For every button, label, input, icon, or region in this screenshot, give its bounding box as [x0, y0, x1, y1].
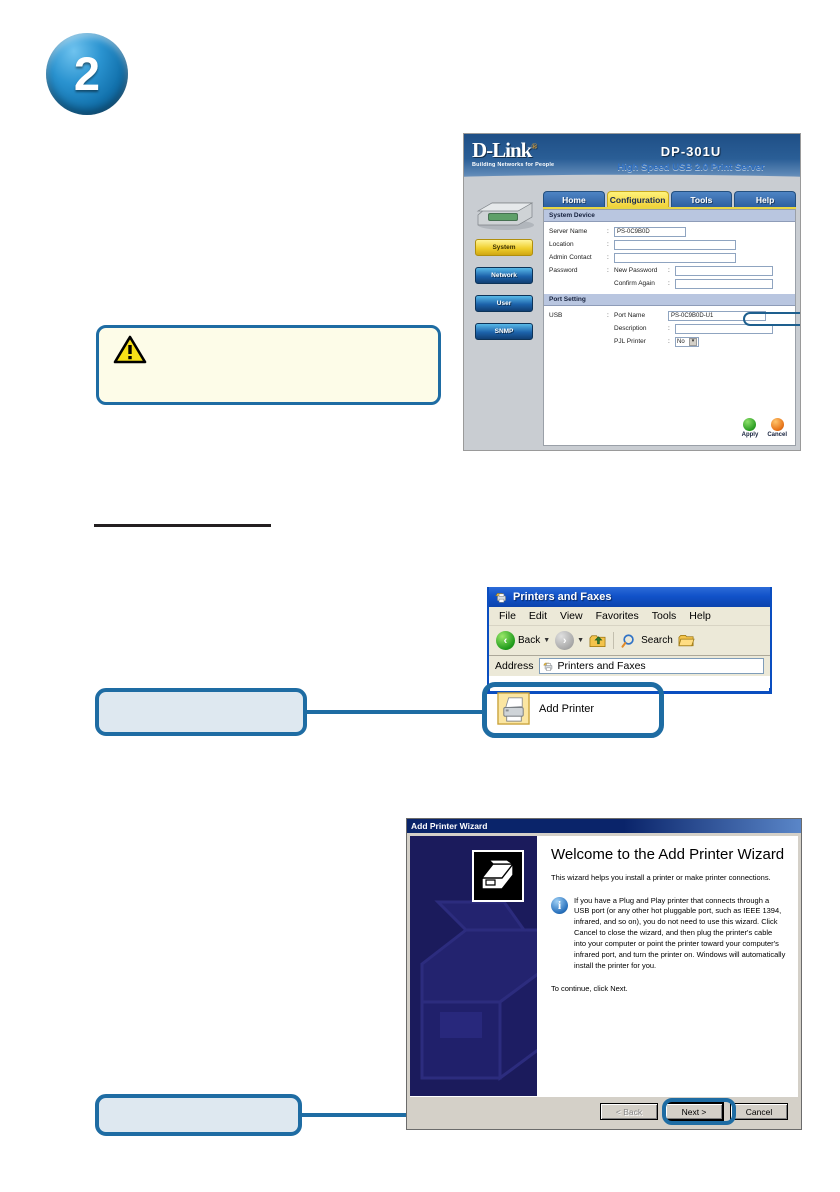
- dlink-brand: D-Link®: [472, 140, 554, 161]
- chevron-down-icon: ▾: [689, 338, 697, 346]
- tab-home[interactable]: Home: [543, 191, 605, 207]
- input-new-password[interactable]: [675, 266, 773, 276]
- printers-and-faxes-window: Printers and Faxes File Edit View Favori…: [487, 587, 772, 694]
- field-row-port-name: USB : Port Name PS-0C9B0D-U1: [544, 309, 795, 322]
- menu-edit[interactable]: Edit: [529, 610, 547, 622]
- section-port-setting: Port Setting: [544, 294, 795, 306]
- dlink-tab-bar: Home Configuration Tools Help: [543, 191, 796, 207]
- window-title-text: Printers and Faxes: [513, 591, 611, 603]
- forward-button[interactable]: › ▼: [555, 631, 584, 650]
- sidebar-item-snmp[interactable]: SNMP: [475, 323, 533, 340]
- toolbar-separator: [613, 632, 614, 649]
- step-number: 2: [74, 50, 100, 97]
- folders-button[interactable]: [678, 633, 695, 649]
- search-button[interactable]: Search: [621, 633, 673, 649]
- tab-tools[interactable]: Tools: [671, 191, 733, 207]
- address-value: Printers and Faxes: [558, 660, 646, 672]
- select-pjl-printer[interactable]: No ▾: [675, 337, 699, 347]
- sidebar-item-network[interactable]: Network: [475, 267, 533, 284]
- input-admin-contact[interactable]: [614, 253, 736, 263]
- cancel-label: Cancel: [767, 432, 787, 438]
- field-row-location: Location :: [544, 238, 795, 251]
- wizard-info-text: If you have a Plug and Play printer that…: [574, 896, 786, 972]
- print-server-device-image: [472, 195, 536, 231]
- back-button[interactable]: ‹ Back ▼: [496, 631, 550, 650]
- colon: :: [607, 267, 614, 274]
- label-usb: USB: [549, 312, 607, 319]
- dlink-subtitle: High Speed USB 2.0 Print Server: [596, 162, 786, 173]
- section-system-device: System Device: [544, 210, 795, 222]
- dlink-model: DP-301U: [596, 144, 786, 159]
- warning-triangle-icon: [113, 335, 147, 365]
- dlink-config-panel: System Device Server Name : PS-0C9B0D Lo…: [543, 209, 796, 446]
- menu-view[interactable]: View: [560, 610, 583, 622]
- input-port-name[interactable]: PS-0C9B0D-U1: [668, 311, 766, 321]
- input-server-name[interactable]: PS-0C9B0D: [614, 227, 686, 237]
- dlink-model-block: DP-301U High Speed USB 2.0 Print Server: [596, 144, 786, 173]
- add-printer-wizard-dialog: Add Printer Wizard Welcome to the Ad: [406, 818, 802, 1130]
- cancel-button[interactable]: Cancel: [730, 1103, 788, 1120]
- printer-folder-icon: [543, 661, 554, 672]
- apply-button[interactable]: Apply: [742, 418, 759, 438]
- callout-next-button: [95, 1094, 302, 1136]
- forward-arrow-icon: ›: [555, 631, 574, 650]
- select-pjl-value: No: [677, 339, 685, 345]
- sidebar-item-user[interactable]: User: [475, 295, 533, 312]
- wizard-info-block: i If you have a Plug and Play printer th…: [551, 896, 786, 972]
- back-arrow-icon: ‹: [496, 631, 515, 650]
- window-title-bar: Printers and Faxes: [489, 587, 770, 607]
- colon: :: [668, 267, 675, 274]
- field-row-new-password: Password : New Password :: [544, 264, 795, 277]
- folders-icon: [678, 633, 695, 649]
- wizard-content: Welcome to the Add Printer Wizard This w…: [537, 836, 798, 1096]
- apply-label: Apply: [742, 432, 759, 438]
- label-port-name: Port Name: [614, 312, 668, 319]
- section-heading-rule: [94, 524, 271, 527]
- menu-tools[interactable]: Tools: [652, 610, 677, 622]
- wizard-heading: Welcome to the Add Printer Wizard: [551, 846, 786, 864]
- magnifier-icon: [621, 633, 638, 649]
- wizard-side-graphic: [410, 836, 537, 1096]
- check-circle-icon: [743, 418, 756, 431]
- printer-icon: [477, 855, 519, 897]
- step-number-badge: 2: [46, 33, 128, 115]
- back-button[interactable]: < Back: [600, 1103, 658, 1120]
- up-folder-icon: [589, 633, 606, 649]
- input-confirm-again[interactable]: [675, 279, 773, 289]
- wizard-intro-text: This wizard helps you install a printer …: [551, 873, 786, 884]
- colon: :: [668, 280, 675, 287]
- warning-note-box: [96, 325, 441, 405]
- tab-help[interactable]: Help: [734, 191, 796, 207]
- address-label: Address: [495, 660, 534, 672]
- colon: :: [607, 254, 614, 261]
- label-confirm-again: Confirm Again: [614, 280, 668, 287]
- label-server-name: Server Name: [549, 228, 607, 235]
- field-row-pjl-printer: PJL Printer : No ▾: [544, 335, 795, 348]
- input-description[interactable]: [675, 324, 773, 334]
- chevron-down-icon[interactable]: ▼: [577, 637, 584, 644]
- dlink-action-buttons: Apply Cancel: [742, 418, 787, 438]
- cancel-button[interactable]: Cancel: [767, 418, 787, 438]
- colon: :: [607, 241, 614, 248]
- address-input[interactable]: Printers and Faxes: [539, 658, 764, 674]
- colon: :: [607, 312, 614, 319]
- menu-favorites[interactable]: Favorites: [596, 610, 639, 622]
- wizard-body: Welcome to the Add Printer Wizard This w…: [410, 836, 798, 1096]
- label-location: Location: [549, 241, 607, 248]
- next-button-highlight-ring: [662, 1098, 736, 1125]
- colon: :: [668, 325, 675, 332]
- menu-file[interactable]: File: [499, 610, 516, 622]
- sidebar-item-system[interactable]: System: [475, 239, 533, 256]
- wizard-title-text: Add Printer Wizard: [411, 821, 487, 831]
- label-description: Description: [614, 325, 668, 332]
- dlink-header: D-Link® Building Networks for People DP-…: [464, 134, 800, 189]
- colon: :: [668, 338, 675, 345]
- registered-mark: ®: [531, 142, 536, 151]
- chevron-down-icon[interactable]: ▼: [543, 637, 550, 644]
- search-label: Search: [641, 635, 673, 646]
- label-pjl-printer: PJL Printer: [614, 338, 668, 345]
- menu-bar: File Edit View Favorites Tools Help: [489, 607, 770, 626]
- label-admin-contact: Admin Contact: [549, 254, 607, 261]
- printer-folder-icon: [495, 591, 508, 604]
- wizard-title-bar: Add Printer Wizard: [407, 819, 801, 833]
- up-button[interactable]: [589, 633, 606, 649]
- dlink-tagline: Building Networks for People: [472, 163, 554, 169]
- dlink-body: Home Configuration Tools Help System Net…: [464, 189, 800, 450]
- input-location[interactable]: [614, 240, 736, 250]
- wizard-continue-text: To continue, click Next.: [551, 984, 786, 993]
- address-bar: Address Printers and Faxes: [489, 656, 770, 676]
- printer-watermark-icon: [410, 872, 537, 1096]
- label-password: Password: [549, 267, 607, 274]
- info-icon: i: [551, 897, 568, 914]
- field-row-server-name: Server Name : PS-0C9B0D: [544, 225, 795, 238]
- back-label: Back: [518, 635, 540, 646]
- callout-add-printer: [95, 688, 307, 736]
- x-circle-icon: [771, 418, 784, 431]
- add-printer-highlight-ring: [482, 682, 664, 738]
- colon: :: [607, 228, 614, 235]
- dlink-web-ui: D-Link® Building Networks for People DP-…: [463, 133, 801, 451]
- label-new-password: New Password: [614, 267, 668, 274]
- dlink-sidebar: System Network User SNMP: [468, 191, 540, 446]
- tab-configuration[interactable]: Configuration: [607, 191, 669, 207]
- wizard-printer-icon: [472, 850, 524, 902]
- field-row-admin-contact: Admin Contact :: [544, 251, 795, 264]
- field-row-confirm-password: Confirm Again :: [544, 277, 795, 290]
- dlink-logo: D-Link® Building Networks for People: [472, 140, 554, 169]
- field-row-description: Description :: [544, 322, 795, 335]
- wizard-button-bar: < Back Next > Cancel: [410, 1096, 798, 1126]
- callout-connector: [305, 710, 485, 714]
- menu-help[interactable]: Help: [689, 610, 711, 622]
- tool-bar: ‹ Back ▼ › ▼ Search: [489, 626, 770, 656]
